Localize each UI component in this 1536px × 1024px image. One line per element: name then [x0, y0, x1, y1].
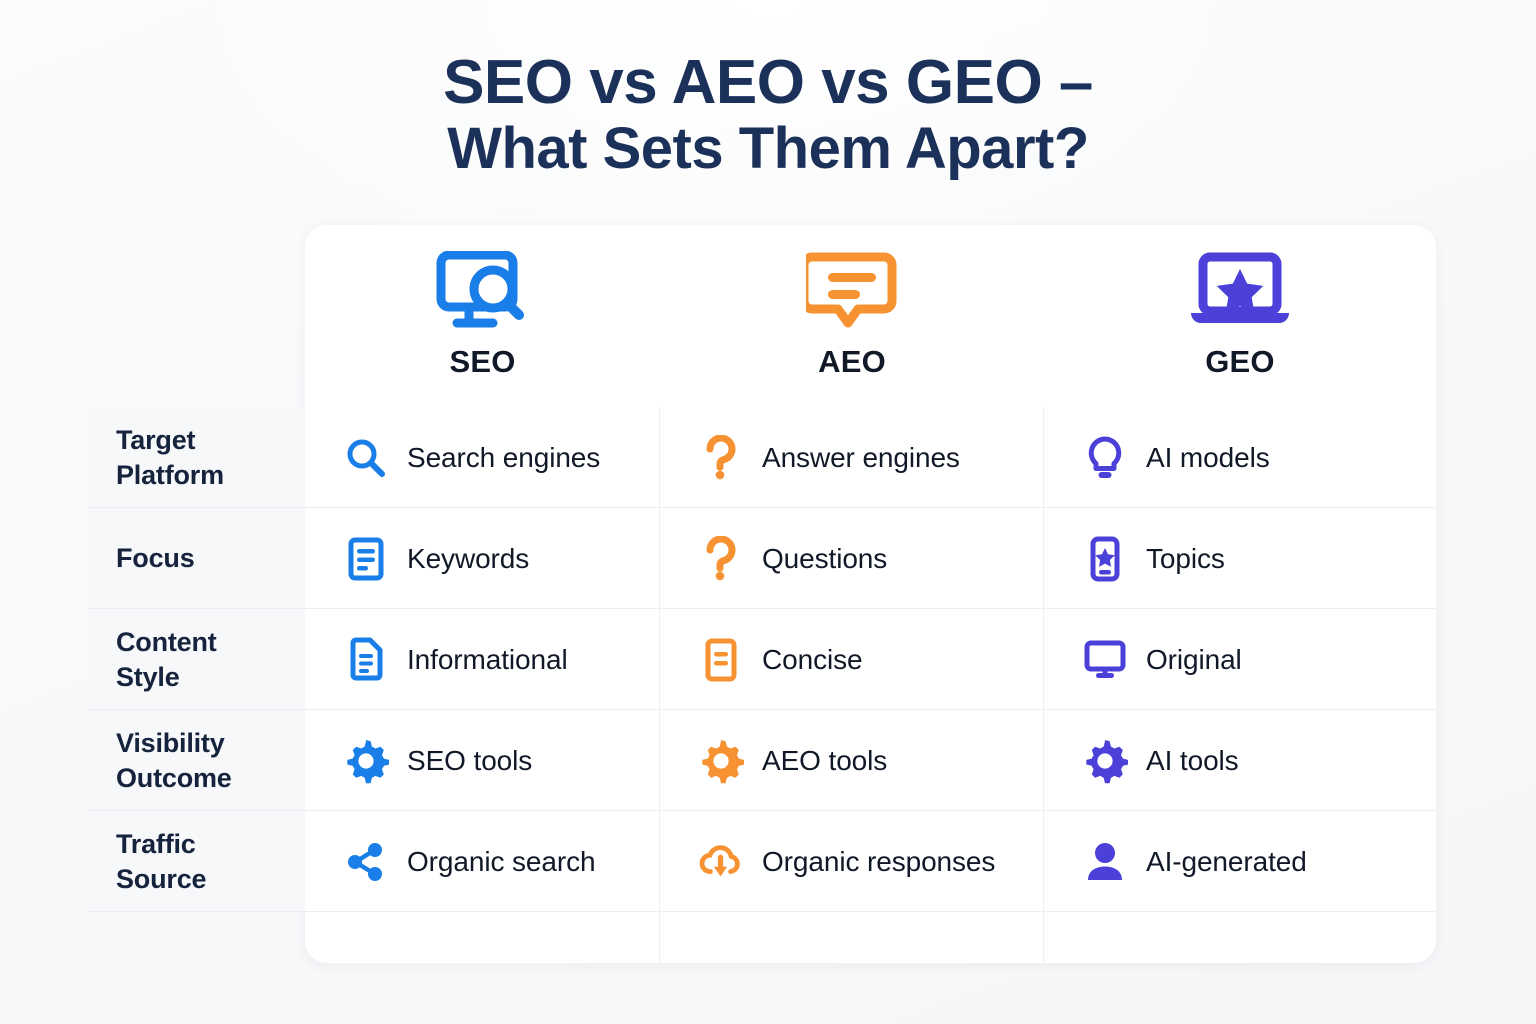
cell-seo-visibility-outcome: SEO tools	[305, 710, 660, 811]
cell-text: Questions	[762, 543, 887, 575]
cell-aeo-traffic-source: Organic responses	[660, 811, 1044, 912]
row-label-text: Visibility Outcome	[116, 726, 232, 795]
header-corner-cell	[88, 225, 305, 407]
cell-geo-target-platform: AI models	[1044, 407, 1436, 508]
row-label-text: Content Style	[116, 625, 217, 694]
page-title: SEO vs AEO vs GEO – What Sets Them Apart…	[0, 48, 1536, 182]
cell-text: AI models	[1146, 442, 1270, 474]
cell-text: SEO tools	[407, 745, 532, 777]
cell-aeo-visibility-outcome: AEO tools	[660, 710, 1044, 811]
cell-seo-focus: Keywords	[305, 508, 660, 609]
cell-seo-content-style: Informational	[305, 609, 660, 710]
title-line-1: SEO vs AEO vs GEO –	[0, 48, 1536, 117]
row-label-traffic-source: Traffic Source	[88, 811, 305, 912]
table-grid: SEO AEO	[88, 225, 1436, 963]
card-star-icon	[1082, 536, 1128, 582]
gear-icon	[698, 738, 744, 784]
cell-geo-focus: Topics	[1044, 508, 1436, 609]
cloud-download-icon	[698, 839, 744, 885]
question-mark-icon	[698, 536, 744, 582]
monitor-search-icon	[435, 252, 531, 330]
cell-text: Organic search	[407, 846, 595, 878]
gear-icon	[1082, 738, 1128, 784]
cell-seo-traffic-source: Organic search	[305, 811, 660, 912]
cell-geo-content-style: Original	[1044, 609, 1436, 710]
cell-text: Original	[1146, 644, 1242, 676]
column-header-aeo: AEO	[660, 225, 1044, 407]
gear-icon	[343, 738, 389, 784]
cell-text: Informational	[407, 644, 568, 676]
footer-spacer-label	[88, 912, 305, 963]
footer-spacer-aeo	[660, 912, 1044, 963]
row-label-focus: Focus	[88, 508, 305, 609]
column-header-aeo-label: AEO	[818, 344, 886, 380]
laptop-star-icon	[1185, 252, 1295, 330]
monitor-icon	[1082, 637, 1128, 683]
speech-bubble-icon	[806, 252, 898, 330]
document-lines-icon	[343, 536, 389, 582]
title-line-2: What Sets Them Apart?	[0, 117, 1536, 182]
comparison-table: SEO AEO	[88, 225, 1436, 963]
question-mark-icon	[698, 435, 744, 481]
cell-geo-traffic-source: AI-generated	[1044, 811, 1436, 912]
cell-text: Answer engines	[762, 442, 960, 474]
row-label-target-platform: Target Platform	[88, 407, 305, 508]
cell-text: AI tools	[1146, 745, 1239, 777]
magnifier-icon	[343, 435, 389, 481]
user-icon	[1082, 839, 1128, 885]
cell-text: Search engines	[407, 442, 600, 474]
cell-seo-target-platform: Search engines	[305, 407, 660, 508]
file-text-icon	[343, 637, 389, 683]
row-label-text: Target Platform	[116, 423, 224, 492]
column-header-seo-label: SEO	[449, 344, 515, 380]
footer-spacer-seo	[305, 912, 660, 963]
footer-spacer-geo	[1044, 912, 1436, 963]
cell-aeo-content-style: Concise	[660, 609, 1044, 710]
cell-text: AI-generated	[1146, 846, 1307, 878]
row-label-text: Focus	[116, 541, 195, 576]
infographic-page: SEO vs AEO vs GEO – What Sets Them Apart…	[0, 0, 1536, 1024]
row-label-visibility-outcome: Visibility Outcome	[88, 710, 305, 811]
cell-text: Organic responses	[762, 846, 995, 878]
row-label-text: Traffic Source	[116, 827, 206, 896]
cell-text: Topics	[1146, 543, 1225, 575]
cell-text: Concise	[762, 644, 862, 676]
cell-text: AEO tools	[762, 745, 887, 777]
row-label-content-style: Content Style	[88, 609, 305, 710]
share-nodes-icon	[343, 839, 389, 885]
cell-geo-visibility-outcome: AI tools	[1044, 710, 1436, 811]
lightbulb-icon	[1082, 435, 1128, 481]
column-header-seo: SEO	[305, 225, 660, 407]
note-lines-icon	[698, 637, 744, 683]
cell-text: Keywords	[407, 543, 529, 575]
cell-aeo-target-platform: Answer engines	[660, 407, 1044, 508]
column-header-geo-label: GEO	[1205, 344, 1275, 380]
cell-aeo-focus: Questions	[660, 508, 1044, 609]
column-header-geo: GEO	[1044, 225, 1436, 407]
